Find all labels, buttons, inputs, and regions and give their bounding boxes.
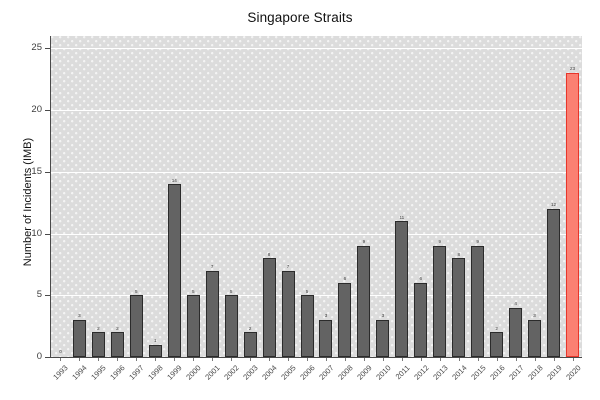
- gridline: [51, 110, 582, 111]
- bar: 7: [282, 271, 295, 357]
- x-axis-tick: [554, 358, 555, 361]
- plot-area: 03225114575287536931169892431223: [51, 36, 582, 357]
- bar: 2: [244, 332, 257, 357]
- gridline: [51, 234, 582, 235]
- bar: 1: [149, 345, 162, 357]
- bar-value-label: 7: [287, 265, 290, 270]
- bar: 3: [528, 320, 541, 357]
- y-axis-tick-label: 10: [2, 229, 42, 239]
- bar: 5: [301, 295, 314, 357]
- bar-value-label: 23: [570, 67, 575, 72]
- y-axis-tick: [45, 110, 50, 111]
- bar-value-label: 5: [230, 290, 233, 295]
- bar: 5: [187, 295, 200, 357]
- bar-value-label: 3: [325, 314, 328, 319]
- x-axis-tick: [250, 358, 251, 361]
- x-axis-tick: [231, 358, 232, 361]
- bar-value-label: 5: [192, 290, 195, 295]
- x-axis-tick: [383, 358, 384, 361]
- bar: 5: [130, 295, 143, 357]
- bar: 6: [414, 283, 427, 357]
- bar-value-label: 3: [382, 314, 385, 319]
- y-axis-tick: [45, 295, 50, 296]
- x-axis-tick: [269, 358, 270, 361]
- x-axis-line: [51, 357, 582, 358]
- bar-value-label: 12: [551, 203, 556, 208]
- bar-highlight: 23: [566, 73, 579, 357]
- y-axis-tick: [45, 172, 50, 173]
- x-axis-tick: [288, 358, 289, 361]
- x-axis-tick: [60, 358, 61, 361]
- x-axis-tick: [345, 358, 346, 361]
- bar-value-label: 9: [476, 240, 479, 245]
- x-axis-tick: [478, 358, 479, 361]
- bar: 2: [92, 332, 105, 357]
- bar-value-label: 9: [438, 240, 441, 245]
- bar-chart: Singapore Straits Number of Incidents (I…: [0, 0, 600, 400]
- bar-value-label: 2: [249, 327, 252, 332]
- x-axis-tick: [364, 358, 365, 361]
- bar-value-label: 11: [399, 216, 404, 221]
- y-axis-title: Number of Incidents (IMB): [22, 82, 34, 322]
- bar: 9: [433, 246, 446, 357]
- x-axis-tick: [155, 358, 156, 361]
- y-axis-tick: [45, 234, 50, 235]
- bar: 4: [509, 308, 522, 357]
- x-axis-tick: [535, 358, 536, 361]
- x-axis-tick: [326, 358, 327, 361]
- y-axis-tick-label: 0: [2, 352, 42, 362]
- bar-value-label: 5: [306, 290, 309, 295]
- x-axis-tick: [98, 358, 99, 361]
- bar: 2: [111, 332, 124, 357]
- x-axis-tick: [212, 358, 213, 361]
- x-axis-tick: [174, 358, 175, 361]
- bar-value-label: 5: [135, 290, 138, 295]
- bar: 6: [338, 283, 351, 357]
- y-axis-tick: [45, 357, 50, 358]
- bar-value-label: 8: [268, 253, 271, 258]
- bar: 5: [225, 295, 238, 357]
- bar: 9: [357, 246, 370, 357]
- y-axis-line: [50, 36, 51, 358]
- bar: 8: [452, 258, 465, 357]
- y-axis-tick-label: 25: [2, 43, 42, 53]
- x-axis-tick: [459, 358, 460, 361]
- bar: 11: [395, 221, 408, 357]
- bar-value-label: 7: [211, 265, 214, 270]
- x-axis-tick: [440, 358, 441, 361]
- chart-title: Singapore Straits: [0, 10, 600, 25]
- x-axis-tick: [497, 358, 498, 361]
- bar-value-label: 8: [457, 253, 460, 258]
- y-axis-tick: [45, 48, 50, 49]
- gridline: [51, 172, 582, 173]
- bar: 7: [206, 271, 219, 357]
- bar-value-label: 0: [59, 350, 62, 355]
- y-axis-tick-label: 15: [2, 167, 42, 177]
- bar: 9: [471, 246, 484, 357]
- x-axis-tick: [421, 358, 422, 361]
- x-axis-tick: [402, 358, 403, 361]
- x-axis-tick: [79, 358, 80, 361]
- bar: 14: [168, 184, 181, 357]
- y-axis-tick-label: 20: [2, 105, 42, 115]
- bar-value-label: 6: [420, 277, 423, 282]
- gridline: [51, 48, 582, 49]
- y-axis-tick-label: 5: [2, 290, 42, 300]
- bar-value-label: 2: [116, 327, 119, 332]
- bar-value-label: 6: [344, 277, 347, 282]
- bar-value-label: 1: [154, 339, 157, 344]
- x-axis-tick: [516, 358, 517, 361]
- bar-value-label: 3: [78, 314, 81, 319]
- bar-value-label: 9: [363, 240, 366, 245]
- x-axis-tick: [136, 358, 137, 361]
- bar: 8: [263, 258, 276, 357]
- x-axis-tick: [117, 358, 118, 361]
- bar-value-label: 14: [172, 179, 177, 184]
- bar: 3: [319, 320, 332, 357]
- x-axis-tick: [307, 358, 308, 361]
- x-axis-tick: [193, 358, 194, 361]
- bar-value-label: 4: [514, 302, 517, 307]
- bar-value-label: 3: [533, 314, 536, 319]
- x-axis-tick: [573, 358, 574, 361]
- bar: 2: [490, 332, 503, 357]
- bar: 3: [376, 320, 389, 357]
- bar-value-label: 2: [495, 327, 498, 332]
- bar: 12: [547, 209, 560, 357]
- bar-value-label: 2: [97, 327, 100, 332]
- bar: 3: [73, 320, 86, 357]
